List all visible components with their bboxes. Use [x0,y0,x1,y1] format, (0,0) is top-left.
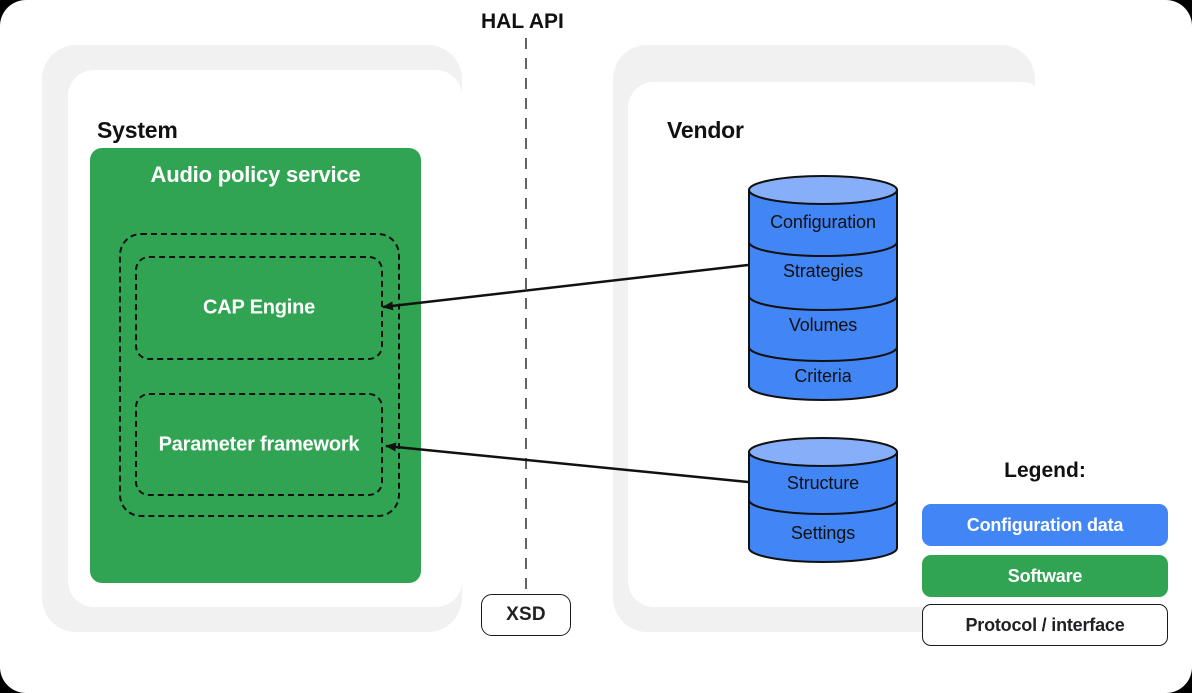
hal-api-title: HAL API [481,10,564,34]
configuration-store-cylinder[interactable]: Configuration Strategies Volumes Criteri… [748,175,898,401]
system-title: System [97,117,178,144]
configuration-store-segment-0: Configuration [748,212,898,233]
vendor-title: Vendor [667,117,744,144]
module-parameter-framework-label: Parameter framework [137,433,381,456]
diagram-canvas: System Audio policy service CAP Engine P… [0,0,1192,693]
configuration-store-segment-2: Volumes [748,315,898,336]
parameter-store-segment-1: Settings [748,523,898,544]
legend-item-protocol-interface[interactable]: Protocol / interface [922,604,1168,646]
legend-item-configuration-data-label: Configuration data [967,515,1123,536]
legend-item-software[interactable]: Software [922,555,1168,597]
parameter-store-cylinder[interactable]: Structure Settings [748,437,898,563]
configuration-store-segment-3: Criteria [748,366,898,387]
module-cap-engine-label: CAP Engine [137,297,381,320]
legend-item-protocol-interface-label: Protocol / interface [965,615,1124,636]
parameter-store-segment-0: Structure [748,473,898,494]
xsd-label: XSD [506,604,546,626]
legend-title: Legend: [922,459,1168,483]
audio-policy-service-title: Audio policy service [90,162,421,188]
legend-item-configuration-data[interactable]: Configuration data [922,504,1168,546]
legend-item-software-label: Software [1008,566,1082,587]
configuration-store-segment-1: Strategies [748,261,898,282]
module-cap-engine[interactable]: CAP Engine [135,256,383,360]
module-parameter-framework[interactable]: Parameter framework [135,393,383,496]
xsd-box[interactable]: XSD [481,594,571,636]
